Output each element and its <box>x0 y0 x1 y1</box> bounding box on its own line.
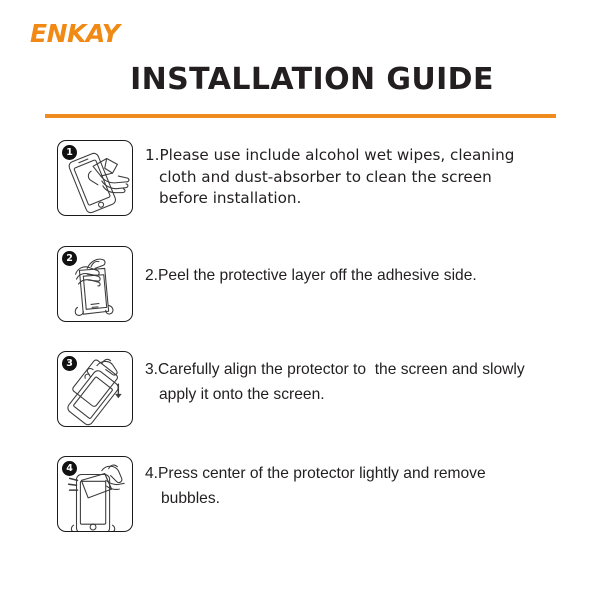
step-text: 3.Carefully align the protector to the s… <box>145 351 525 407</box>
brand-name: ENKAY <box>27 21 119 46</box>
step-line-2: apply it onto the screen. <box>145 382 525 407</box>
step-text: 4.Press center of the protector lightly … <box>145 456 486 511</box>
list-item: 2 <box>0 246 600 322</box>
step-line-2: cloth and dust-absorber to clean the scr… <box>145 167 514 189</box>
peel-protective-layer-icon: 2 <box>57 246 133 322</box>
phone-wipe-clean-icon: 1 <box>57 140 133 216</box>
list-item: 3 <box>0 351 600 427</box>
step-text: 1.Please use include alcohol wet wipes, … <box>145 140 514 210</box>
list-item: 4 <box>0 456 600 532</box>
steps-list: 1 <box>0 140 600 532</box>
step-illustration-wrap: 4 <box>57 456 133 532</box>
step-illustration-wrap: 2 <box>57 246 133 322</box>
press-center-bubbles-icon: 4 <box>57 456 133 532</box>
step-badge: 4 <box>62 461 77 476</box>
step-text: 2.Peel the protective layer off the adhe… <box>145 246 477 288</box>
brand-logo: ENKAY <box>27 18 119 48</box>
step-line-1: 4.Press center of the protector lightly … <box>145 461 486 486</box>
step-line-2: bubbles. <box>145 486 486 511</box>
step-illustration-wrap: 3 <box>57 351 133 427</box>
step-badge: 3 <box>62 356 77 371</box>
page-title: INSTALLATION GUIDE <box>0 62 600 97</box>
step-illustration-wrap: 1 <box>57 140 133 216</box>
step-badge: 1 <box>62 145 77 160</box>
list-item: 1 <box>0 140 600 216</box>
title-divider <box>45 114 556 118</box>
step-line-3: before installation. <box>145 188 514 210</box>
step-badge: 2 <box>62 251 77 266</box>
step-line-1: 2.Peel the protective layer off the adhe… <box>145 263 477 288</box>
step-line-1: 1.Please use include alcohol wet wipes, … <box>145 145 514 167</box>
step-line-1: 3.Carefully align the protector to the s… <box>145 357 525 382</box>
align-protector-icon: 3 <box>57 351 133 427</box>
